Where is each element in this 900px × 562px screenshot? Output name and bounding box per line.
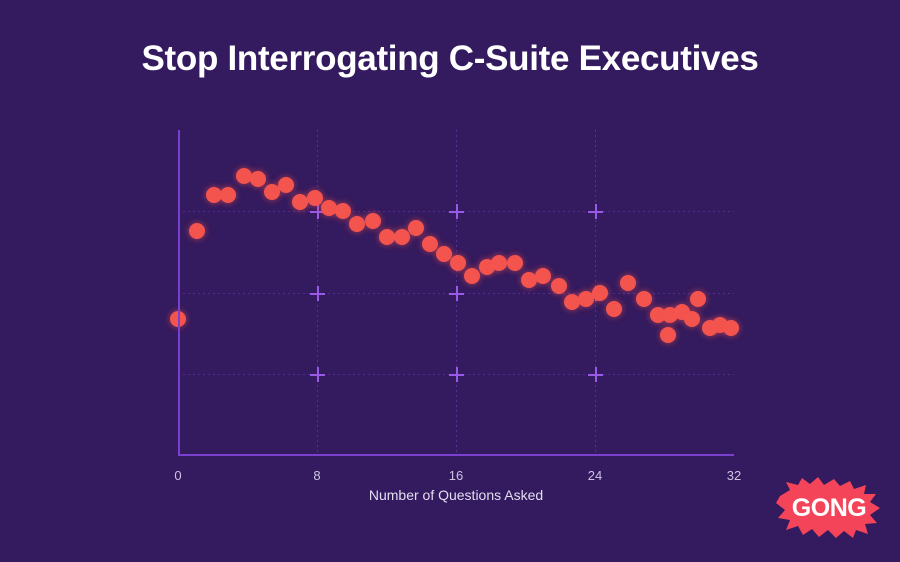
data-point — [592, 285, 608, 301]
horizontal-gridline — [178, 374, 734, 375]
data-point — [491, 255, 507, 271]
x-tick-label: 0 — [174, 468, 181, 483]
data-point — [620, 275, 636, 291]
gong-wordmark: GONG — [776, 476, 882, 540]
x-tick-label: 24 — [588, 468, 602, 483]
x-tick-label: 8 — [313, 468, 320, 483]
y-axis-spine — [178, 130, 180, 455]
data-point — [723, 320, 739, 336]
data-point — [551, 278, 567, 294]
data-point — [690, 291, 706, 307]
data-point — [394, 229, 410, 245]
data-point — [660, 327, 676, 343]
scatter-plot-area: 08162432 — [178, 130, 734, 455]
data-point — [365, 213, 381, 229]
data-point — [278, 177, 294, 193]
x-axis-spine — [178, 454, 734, 456]
data-point — [220, 187, 236, 203]
x-axis-label: Number of Questions Asked — [178, 487, 734, 503]
data-point — [349, 216, 365, 232]
data-point — [450, 255, 466, 271]
page-title: Stop Interrogating C-Suite Executives — [0, 40, 900, 79]
data-point — [606, 301, 622, 317]
data-point — [408, 220, 424, 236]
data-point — [507, 255, 523, 271]
x-tick-label: 32 — [727, 468, 741, 483]
data-point — [636, 291, 652, 307]
data-point — [464, 268, 480, 284]
horizontal-gridline — [178, 211, 734, 212]
x-tick-label: 16 — [449, 468, 463, 483]
data-point — [250, 171, 266, 187]
data-point — [189, 223, 205, 239]
data-point — [422, 236, 438, 252]
data-point — [292, 194, 308, 210]
horizontal-gridline — [178, 293, 734, 294]
data-point — [379, 229, 395, 245]
data-point — [535, 268, 551, 284]
data-point — [335, 203, 351, 219]
data-point — [436, 246, 452, 262]
gong-logo[interactable]: GONG — [776, 476, 882, 540]
data-point — [684, 311, 700, 327]
